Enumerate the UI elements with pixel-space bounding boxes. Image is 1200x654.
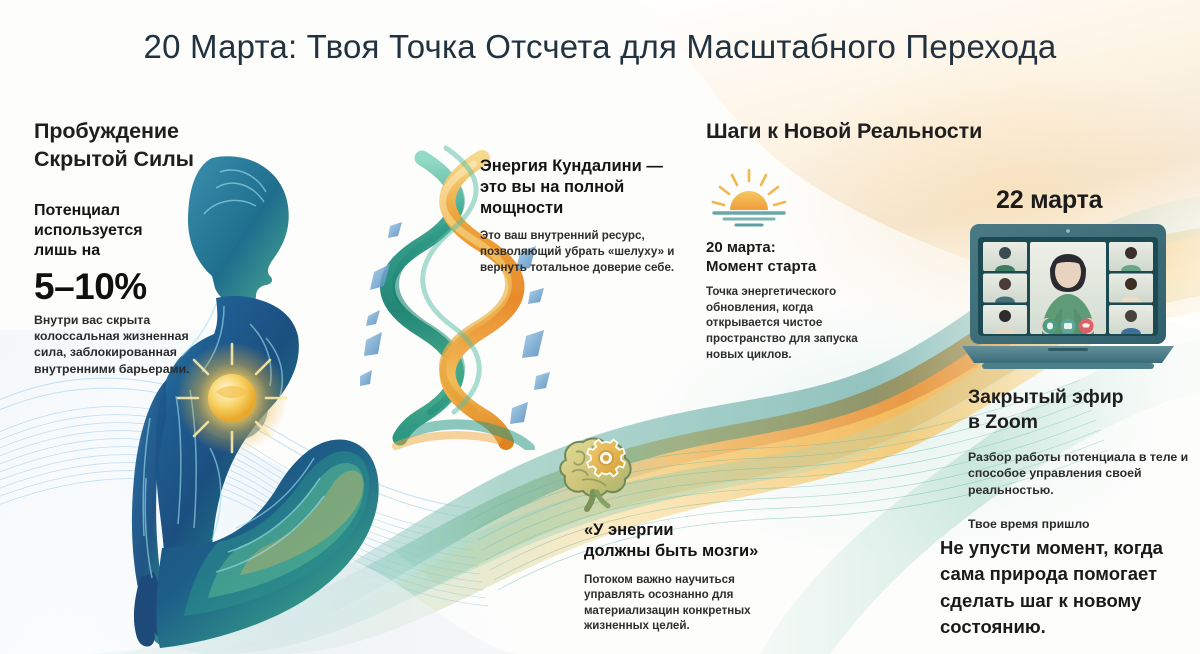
- closing-text: Не упусти момент, когда сама природа пом…: [940, 535, 1190, 640]
- closing-statement: Не упусти момент, когда сама природа пом…: [940, 535, 1190, 640]
- zoom-note: Твое время пришло: [968, 516, 1190, 532]
- potential-caption: Внутри вас скрыта колоссальная жизненная…: [34, 312, 224, 378]
- laptop-video-call-icon: [962, 222, 1174, 374]
- sunrise-icon: [710, 168, 788, 228]
- zoom-broadcast-block: Закрытый эфир в Zoom Разбор работы потен…: [968, 385, 1190, 533]
- start-moment-body: Точка энергетического обновления, когда …: [706, 284, 886, 362]
- start-moment-title: 20 марта: Момент старта: [706, 238, 886, 276]
- infographic-canvas: 20 Марта: Твоя Точка Отсчета для Масштаб…: [0, 0, 1200, 654]
- steps-heading: Шаги к Новой Реальности: [706, 118, 1036, 146]
- date-tag-22-march: 22 марта: [996, 186, 1102, 215]
- steps-block: Шаги к Новой Реальности: [706, 118, 1036, 146]
- video-call-controls: [1043, 319, 1094, 334]
- page-title: 20 Марта: Твоя Точка Отсчета для Масштаб…: [0, 28, 1200, 66]
- awakening-block: Пробуждение Скрытой Силы Потенциал испол…: [34, 118, 224, 377]
- brains-block: «У энергии должны быть мозги» Потоком ва…: [584, 520, 784, 634]
- zoom-body: Разбор работы потенциала в теле и способ…: [968, 449, 1190, 498]
- kundalini-heading: Энергия Кундалини — это вы на полной мощ…: [480, 156, 676, 218]
- potential-lead: Потенциал используется лишь на: [34, 201, 224, 261]
- brains-heading: «У энергии должны быть мозги»: [584, 520, 784, 562]
- brain-gear-icon: [556, 436, 640, 512]
- kundalini-block: Энергия Кундалини — это вы на полной мощ…: [480, 156, 676, 275]
- awakening-heading: Пробуждение Скрытой Силы: [34, 118, 224, 173]
- potential-percentage: 5–10%: [34, 268, 224, 305]
- start-moment-block: 20 марта: Момент старта Точка энергетиче…: [706, 238, 886, 362]
- brains-body: Потоком важно научиться управлять осозна…: [584, 572, 784, 635]
- kundalini-body: Это ваш внутренний ресурс, позволяющий у…: [480, 228, 676, 275]
- zoom-heading: Закрытый эфир в Zoom: [968, 385, 1190, 435]
